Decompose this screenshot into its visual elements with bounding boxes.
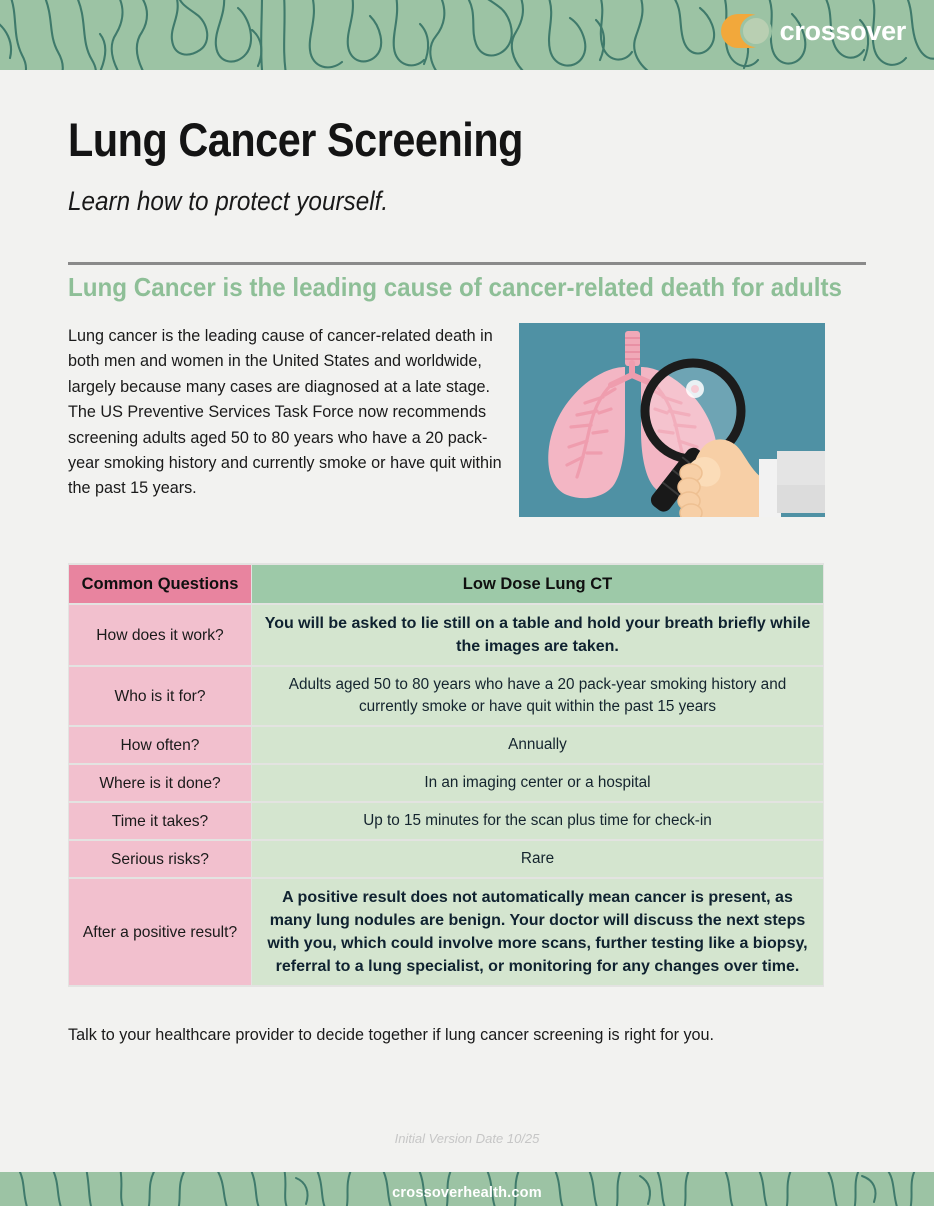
table-row: After a positive result? A positive resu… (69, 879, 823, 985)
questions-table: Common Questions Low Dose Lung CT How do… (68, 563, 824, 987)
crossover-logo[interactable]: crossover (721, 14, 906, 48)
page-subtitle: Learn how to protect yourself. (68, 186, 388, 217)
section-divider (68, 262, 866, 265)
table-row: Where is it done? In an imaging center o… (69, 765, 823, 801)
row-answer: Up to 15 minutes for the scan plus time … (252, 803, 823, 839)
row-question: Who is it for? (69, 667, 251, 725)
section-heading: Lung Cancer is the leading cause of canc… (68, 272, 842, 303)
table-row: Time it takes? Up to 15 minutes for the … (69, 803, 823, 839)
row-question: Where is it done? (69, 765, 251, 801)
table-body: Common Questions Low Dose Lung CT How do… (69, 565, 823, 985)
row-answer: Rare (252, 841, 823, 877)
row-answer: Annually (252, 727, 823, 763)
table-row: How often? Annually (69, 727, 823, 763)
document-page: crossover Lung Cancer Screening Learn ho… (0, 0, 934, 1206)
table-row: How does it work? You will be asked to l… (69, 605, 823, 665)
footer-url[interactable]: crossoverhealth.com (0, 1185, 934, 1201)
page-title: Lung Cancer Screening (68, 112, 523, 167)
section-body-text: Lung cancer is the leading cause of canc… (68, 324, 508, 502)
crossover-circles-logo-icon (721, 14, 767, 48)
row-question: Time it takes? (69, 803, 251, 839)
table-header-row: Common Questions Low Dose Lung CT (69, 565, 823, 603)
row-question: Serious risks? (69, 841, 251, 877)
lungs-with-magnifying-glass-illustration (519, 323, 825, 517)
row-answer: A positive result does not automatically… (252, 879, 823, 985)
table-row: Who is it for? Adults aged 50 to 80 year… (69, 667, 823, 725)
row-question: After a positive result? (69, 879, 251, 985)
row-question: How often? (69, 727, 251, 763)
header-band: crossover (0, 0, 934, 70)
column-header-questions: Common Questions (69, 565, 251, 603)
logo-wordmark: crossover (780, 16, 906, 47)
row-answer: In an imaging center or a hospital (252, 765, 823, 801)
version-note: Initial Version Date 10/25 (0, 1131, 934, 1146)
row-question: How does it work? (69, 605, 251, 665)
row-answer: You will be asked to lie still on a tabl… (252, 605, 823, 665)
table-row: Serious risks? Rare (69, 841, 823, 877)
lungs-illustration-icon (519, 323, 825, 517)
closing-text: Talk to your healthcare provider to deci… (68, 1026, 714, 1045)
row-answer: Adults aged 50 to 80 years who have a 20… (252, 667, 823, 725)
column-header-answers: Low Dose Lung CT (252, 565, 823, 603)
